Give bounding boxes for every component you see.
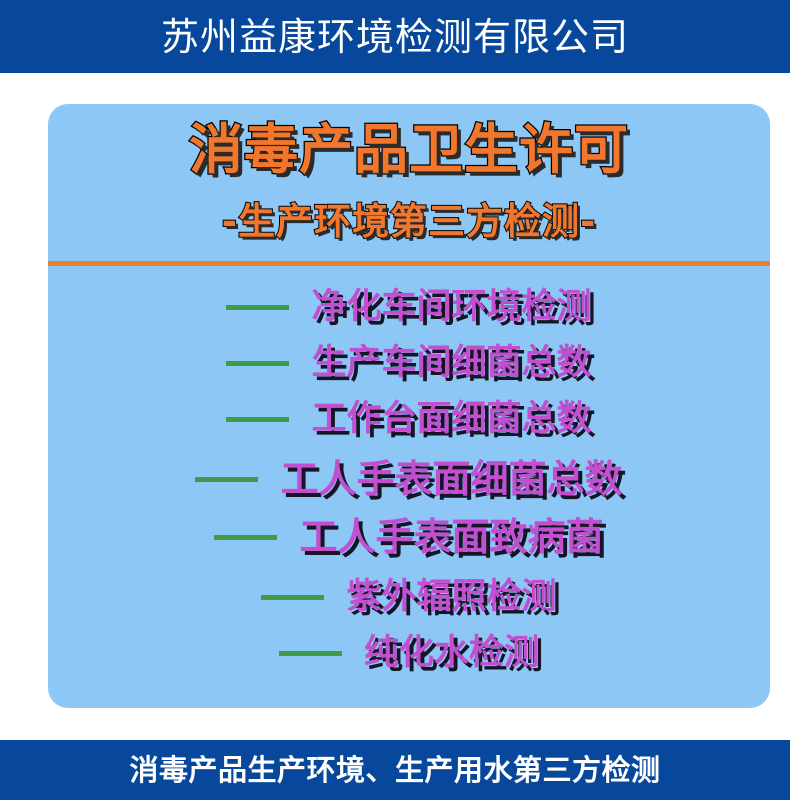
footer-tagline: 消毒产品生产环境、生产用水第三方检测 (129, 756, 660, 785)
dash-marker-icon (261, 595, 324, 600)
list-item: 工人手表面致病菌 (48, 512, 770, 562)
dash-marker-icon (226, 417, 289, 422)
list-item: 紫外辐照检测 (48, 572, 770, 622)
dash-marker-icon (226, 361, 289, 366)
list-item: 净化车间环境检测 (48, 282, 770, 332)
list-item: 工作台面细菌总数 (48, 394, 770, 444)
promo-card: 消毒产品卫生许可 -生产环境第三方检测- 净化车间环境检测 生产车间细菌总数 工… (48, 104, 770, 708)
list-item-label: 工人手表面细菌总数 (280, 460, 622, 498)
company-name: 苏州益康环境检测有限公司 (161, 18, 629, 56)
footer-band: 消毒产品生产环境、生产用水第三方检测 (0, 740, 790, 800)
list-item-label: 工作台面细菌总数 (311, 402, 591, 437)
list-item: 工人手表面细菌总数 (48, 454, 770, 504)
dash-marker-icon (214, 535, 277, 540)
list-item-label: 净化车间环境检测 (311, 290, 591, 325)
list-item: 生产车间细菌总数 (48, 338, 770, 388)
card-subtitle: -生产环境第三方检测- (48, 202, 770, 243)
list-item: 纯化水检测 (48, 628, 770, 678)
card-title: 消毒产品卫生许可 (48, 122, 770, 179)
header-band: 苏州益康环境检测有限公司 (0, 0, 790, 73)
dash-marker-icon (195, 477, 258, 482)
service-list: 净化车间环境检测 生产车间细菌总数 工作台面细菌总数 工人手表面细菌总数 工人手… (48, 282, 770, 702)
orange-divider (48, 261, 770, 266)
dash-marker-icon (226, 305, 289, 310)
list-item-label: 纯化水检测 (364, 636, 539, 671)
dash-marker-icon (279, 651, 342, 656)
list-item-label: 紫外辐照检测 (346, 580, 556, 615)
list-item-label: 生产车间细菌总数 (311, 346, 591, 381)
list-item-label: 工人手表面致病菌 (299, 518, 603, 556)
